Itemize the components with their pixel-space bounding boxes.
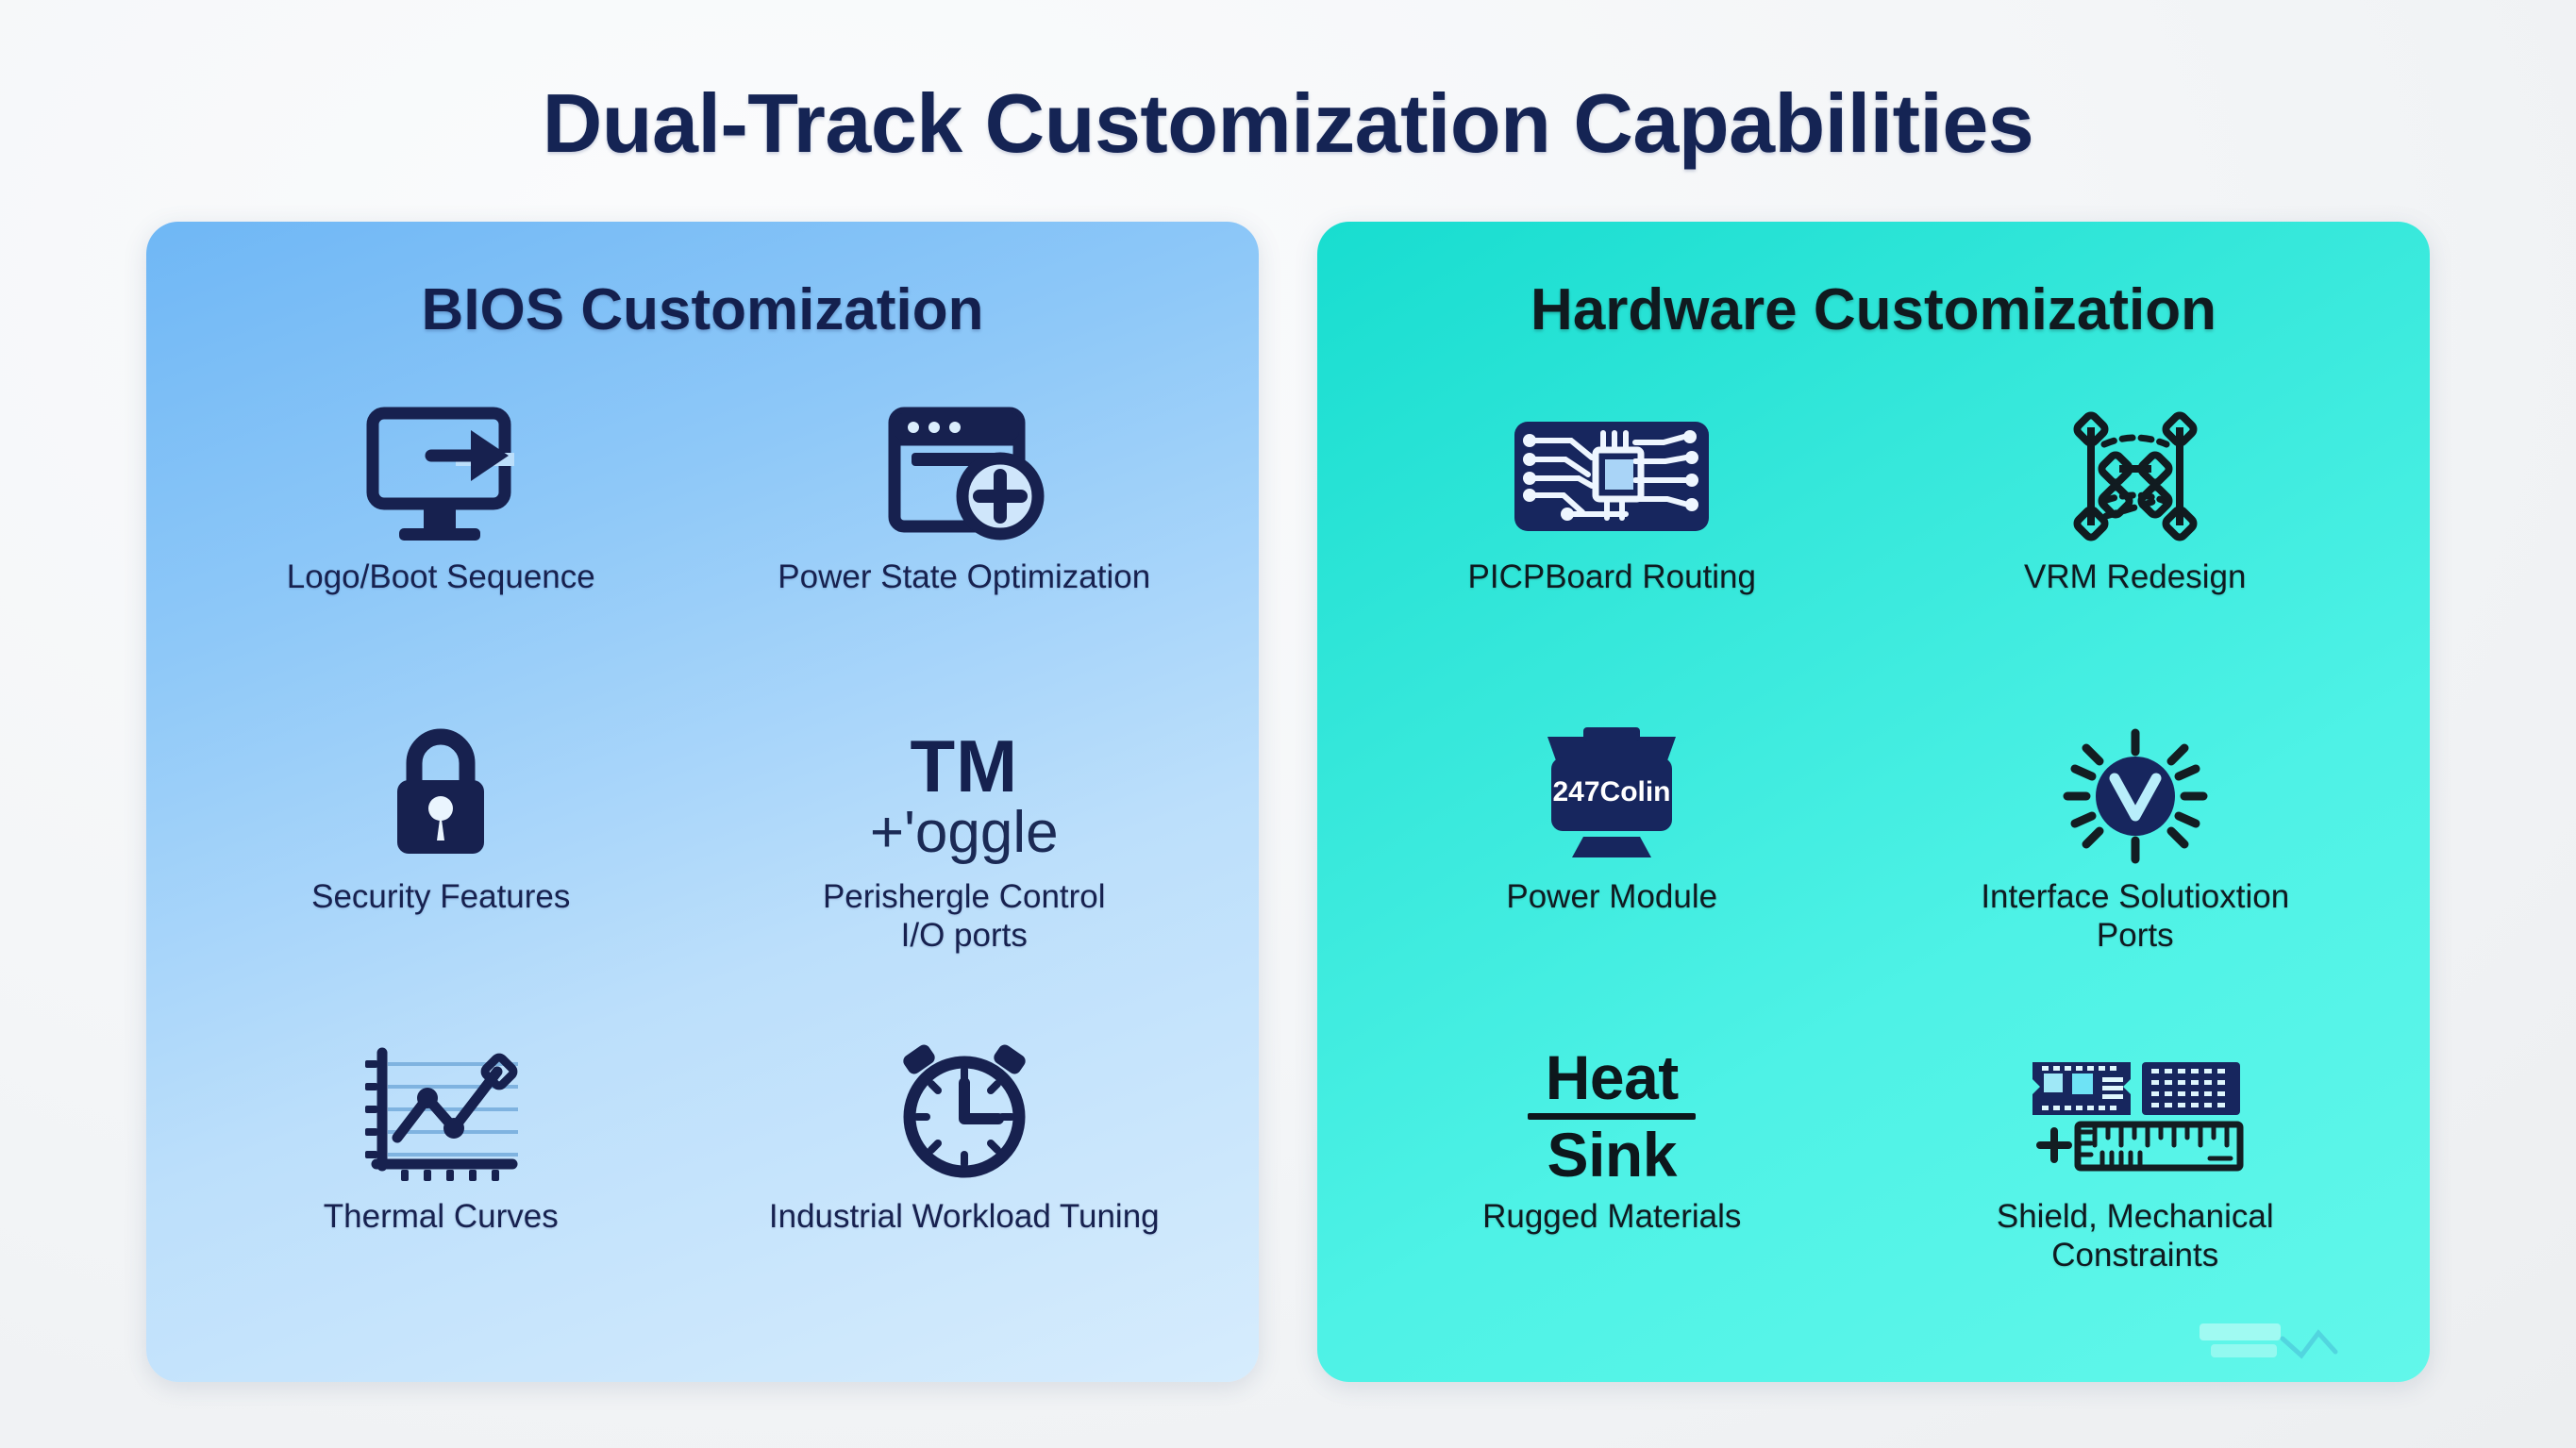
feature-label: Rugged Materials <box>1482 1198 1741 1237</box>
feature-label: Interface Solutioxtion Ports <box>1981 878 2289 955</box>
alarm-clock-icon <box>889 1040 1040 1192</box>
feature-label: Thermal Curves <box>324 1198 559 1237</box>
page-title: Dual-Track Customization Capabilities <box>543 75 2034 172</box>
feature-label: Power Module <box>1506 878 1717 917</box>
feature-pcb-board-routing[interactable]: PICPBoard Routing <box>1355 394 1869 714</box>
feature-peripheral-io-control[interactable]: TM +'oggle Perishergle Control I/O ports <box>708 714 1222 1034</box>
power-module-display-icon: 247Colin <box>1527 720 1697 873</box>
padlock-icon <box>375 720 507 873</box>
feature-label: Power State Optimization <box>778 558 1150 597</box>
panel-bios-grid: Logo/Boot Sequence <box>184 394 1221 1354</box>
power-module-display-text: 247Colin <box>1553 776 1671 807</box>
line-chart-icon <box>356 1040 526 1192</box>
feature-interface-solution-ports[interactable]: Interface Solutioxtion Ports <box>1879 714 2393 1034</box>
wordmark-divider <box>1528 1113 1696 1120</box>
feature-power-state-optimization[interactable]: Power State Optimization <box>708 394 1222 714</box>
feature-label: Perishergle Control I/O ports <box>823 878 1106 955</box>
panel-bios-customization: BIOS Customization Logo/B <box>146 222 1259 1382</box>
heat-sink-wordmark-icon: Heat Sink <box>1528 1040 1696 1192</box>
circuit-board-chip-icon <box>1513 400 1711 553</box>
feature-vrm-redesign[interactable]: VRM Redesign <box>1879 394 2393 714</box>
node-network-icon <box>2065 400 2206 553</box>
wordmark-bottom: +'oggle <box>870 805 1059 862</box>
feature-security-features[interactable]: Security Features <box>184 714 698 1034</box>
feature-power-module[interactable]: 247Colin Power Module <box>1355 714 1869 1034</box>
monitor-arrow-icon <box>358 400 524 553</box>
panel-hardware-title: Hardware Customization <box>1355 276 2392 343</box>
window-plus-icon <box>881 400 1047 553</box>
wordmark-top: Heat <box>1546 1046 1679 1108</box>
wordmark-bottom: Sink <box>1547 1123 1677 1186</box>
infographic-page: Dual-Track Customization Capabilities BI… <box>0 0 2576 1448</box>
panel-hardware-customization: Hardware Customization <box>1317 222 2430 1382</box>
feature-label: PICPBoard Routing <box>1468 558 1756 597</box>
sun-check-icon <box>2060 720 2211 873</box>
feature-label: Shield, Mechanical Constraints <box>1997 1198 2274 1274</box>
panel-hardware-grid: PICPBoard Routing <box>1355 394 2392 1354</box>
feature-label: Logo/Boot Sequence <box>287 558 595 597</box>
feature-rugged-materials[interactable]: Heat Sink Rugged Materials <box>1355 1034 1869 1354</box>
panel-bios-title: BIOS Customization <box>184 276 1221 343</box>
feature-industrial-workload-tuning[interactable]: Industrial Workload Tuning <box>708 1034 1222 1354</box>
tm-toggle-wordmark-icon: TM +'oggle <box>870 720 1059 873</box>
panels-container: BIOS Customization Logo/B <box>0 222 2576 1448</box>
title-area: Dual-Track Customization Capabilities <box>0 0 2576 222</box>
memory-module-ruler-icon <box>2027 1040 2244 1192</box>
feature-label: Industrial Workload Tuning <box>769 1198 1160 1237</box>
feature-shield-mechanical-constraints[interactable]: Shield, Mechanical Constraints <box>1879 1034 2393 1354</box>
feature-logo-boot-sequence[interactable]: Logo/Boot Sequence <box>184 394 698 714</box>
feature-label: Security Features <box>311 878 570 917</box>
wordmark-top: TM <box>910 730 1018 802</box>
feature-label: VRM Redesign <box>2024 558 2246 597</box>
feature-thermal-curves[interactable]: Thermal Curves <box>184 1034 698 1354</box>
